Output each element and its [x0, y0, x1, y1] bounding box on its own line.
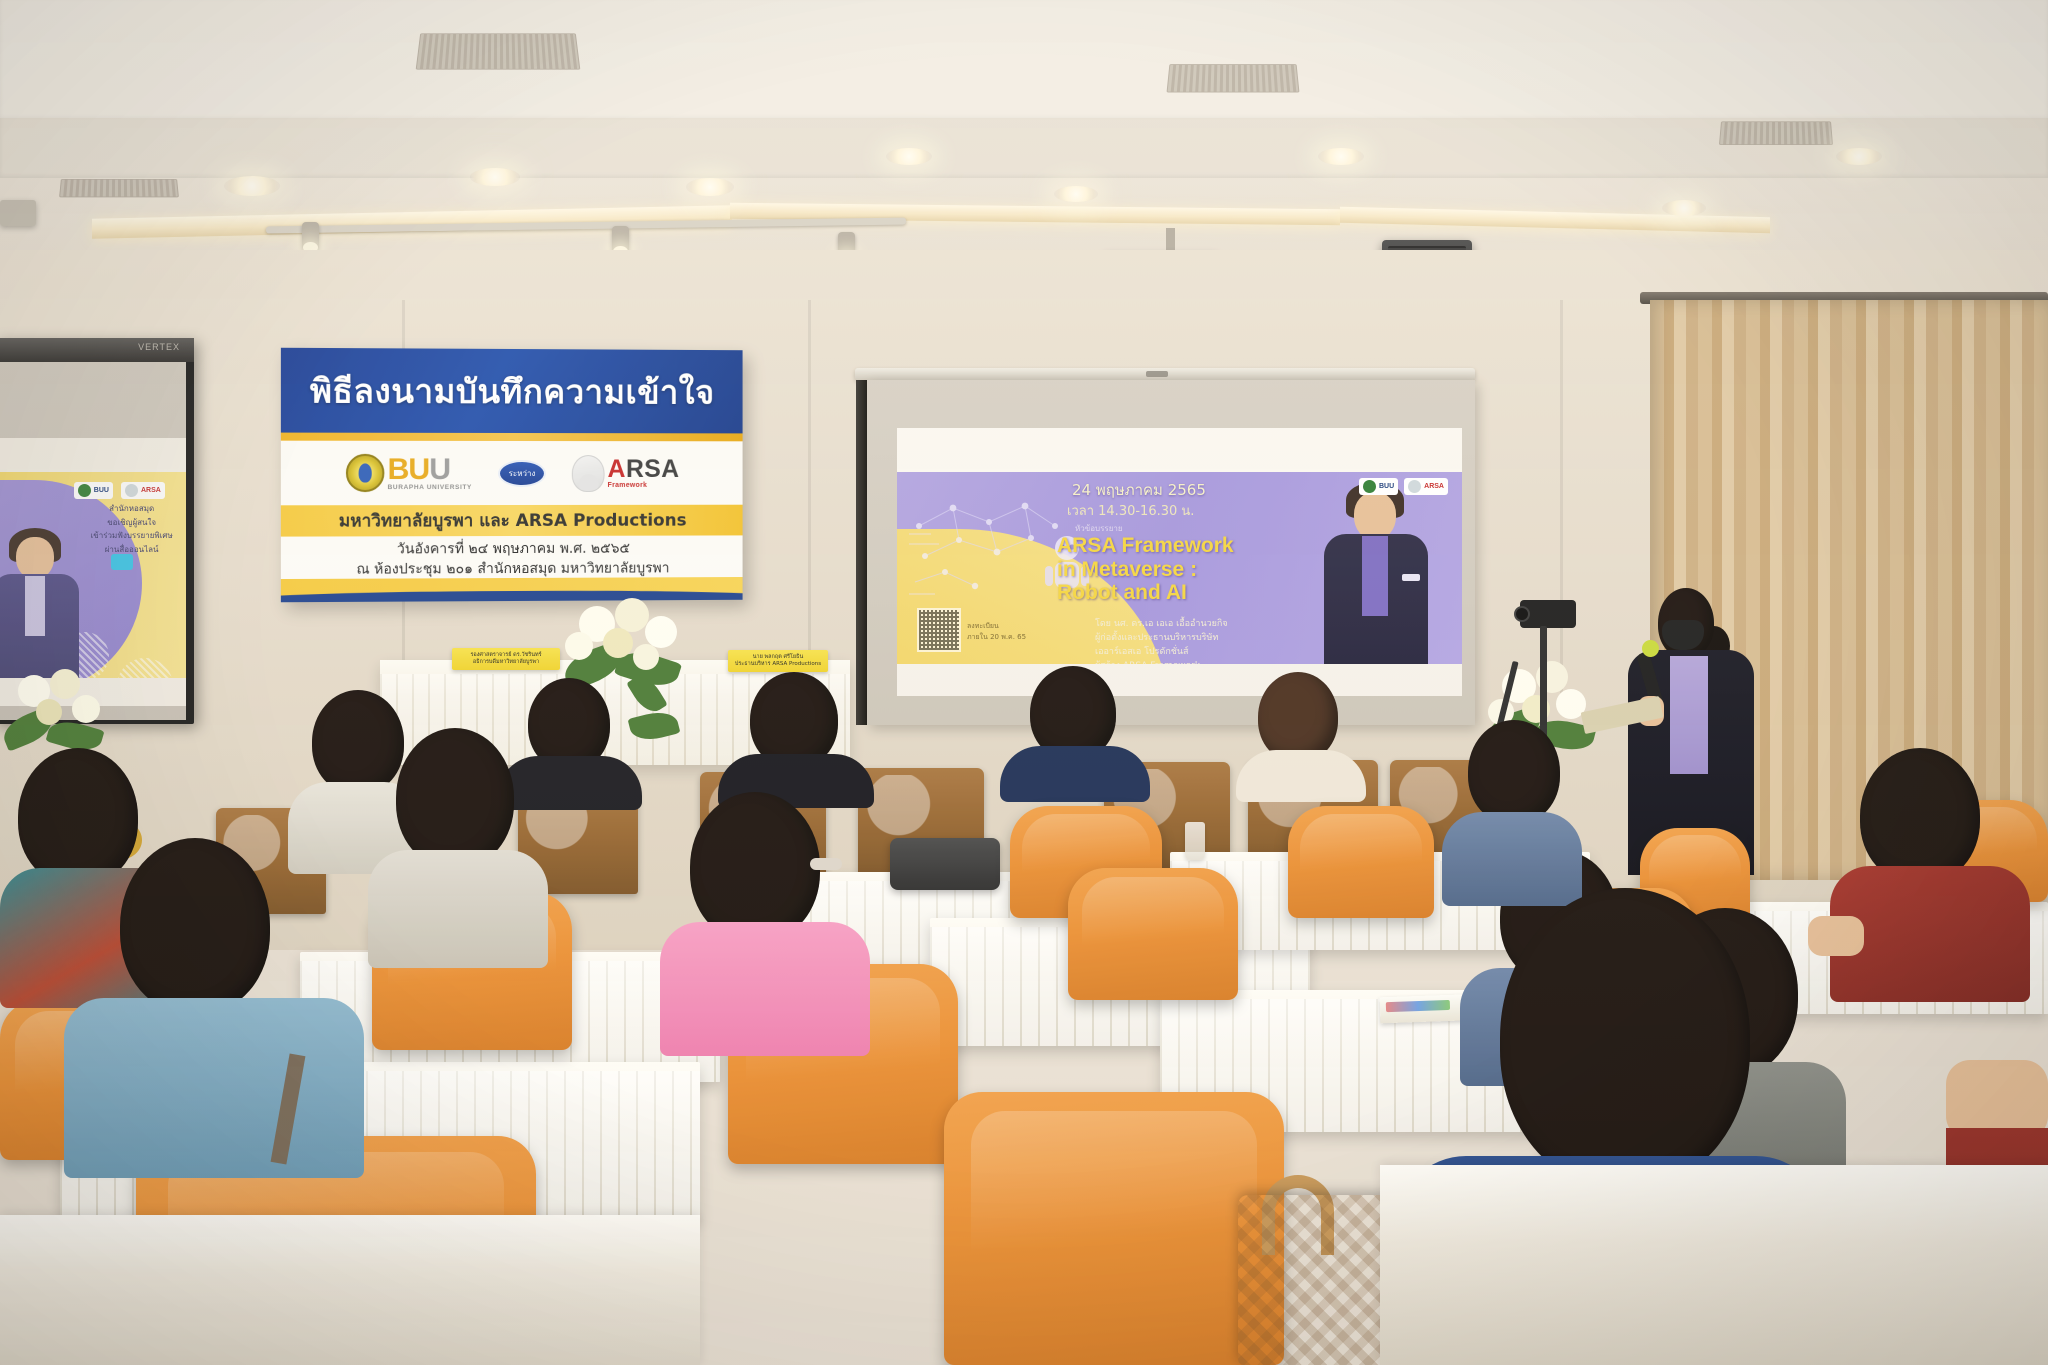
buu-logo-text: BUU — [1379, 483, 1394, 490]
arsa-subtitle: Framework — [608, 482, 680, 489]
dot-circle — [117, 658, 173, 678]
wall-seam — [1560, 300, 1563, 700]
right-slide-body: 24 พฤษภาคม 2565 เวลา 14.30-16.30 น. หัวข… — [897, 472, 1462, 664]
buu-logo: BUU BURAPHA UNIVERSITY — [346, 454, 472, 492]
seated-guest — [718, 672, 874, 806]
slide-speaker-line-2: ผู้ก่อตั้งและประธานบริหารบริษัท — [1095, 632, 1325, 646]
torso — [1236, 750, 1366, 802]
nameplate-right-line-2: ประธานบริหาร ARSA Productions — [735, 661, 821, 668]
right-slide-logos: BUU ARSA — [1359, 478, 1448, 495]
downlight — [886, 148, 932, 165]
ac-vent — [59, 179, 179, 197]
spot-light[interactable] — [302, 222, 319, 252]
torso — [1000, 746, 1150, 802]
slide-title-line-2: in Metaverse : — [1057, 558, 1307, 582]
water-glass[interactable] — [1185, 822, 1205, 860]
conference-room-photo: VERTEX — [0, 0, 2048, 1365]
cove-light — [1340, 207, 1770, 234]
nameplate-left: รองศาสตราจารย์ ดร.วัชรินทร์ อธิการบดีมหา… — [452, 648, 560, 670]
buu-seal-icon — [1363, 480, 1376, 493]
face-mask-strap — [810, 858, 842, 870]
left-slide-line-3: เข้าร่วมฟังบรรยายพิเศษ — [81, 529, 182, 543]
downlight — [470, 168, 520, 186]
qr-caption: ลงทะเบียน ภายใน 20 พ.ค. 65 — [967, 621, 1026, 642]
buu-subtitle: BURAPHA UNIVERSITY — [388, 485, 472, 492]
buu-seal-icon — [78, 484, 91, 497]
downlight — [1318, 148, 1364, 165]
slide-title: ARSA Framework in Metaverse : Robot and … — [1057, 534, 1307, 605]
downlight — [1054, 186, 1098, 202]
between-label-text: ระหว่าง — [509, 466, 536, 479]
banner-detail-lines: วันอังคารที่ ๒๔ พฤษภาคม พ.ศ. ๒๕๖๕ ณ ห้อง… — [281, 535, 743, 579]
left-slide-logos: BUU ARSA — [74, 482, 165, 499]
downlight — [224, 176, 280, 196]
banner-date-line: วันอังคารที่ ๒๔ พฤษภาคม พ.ศ. ๒๕๖๕ — [281, 538, 743, 560]
banner-parties-text: มหาวิทยาลัยบูรพา และ ARSA Productions — [339, 507, 687, 535]
qr-caption-line-2: ภายใน 20 พ.ค. 65 — [967, 632, 1026, 643]
slide-speaker-line-4: ผู้สร้าง ARSA Framework — [1095, 660, 1325, 664]
slide-date: 24 พฤษภาคม 2565 — [1072, 478, 1206, 502]
nameplate-left-line-2: อธิการบดีมหาวิทยาลัยบูรพา — [473, 659, 539, 666]
banner-header: พิธีลงนามบันทึกความเข้าใจ — [281, 348, 743, 434]
audience-chair[interactable] — [1068, 868, 1238, 1000]
slide-speaker-photo — [0, 528, 87, 678]
downlight — [1662, 200, 1706, 216]
torso — [368, 850, 548, 968]
torso — [660, 922, 870, 1056]
foreground-table — [1380, 1165, 2048, 1365]
between-label-badge: ระหว่าง — [498, 459, 546, 486]
slide-time: เวลา 14.30-16.30 น. — [1067, 500, 1194, 521]
shirt — [1670, 656, 1708, 774]
head — [1258, 672, 1338, 762]
torso — [64, 998, 364, 1178]
event-banner: พิธีลงนามบันทึกความเข้าใจ BUU BURAPHA UN… — [281, 348, 743, 603]
audience-member — [368, 728, 548, 958]
nameplate-left-line-1: รองศาสตราจารย์ ดร.วัชรินทร์ — [470, 652, 541, 659]
arsa-logo-text: ARSA — [141, 487, 161, 494]
buu-wordmark: BUU — [388, 455, 472, 485]
corner-fixture — [0, 200, 36, 226]
camera-lens-icon — [1514, 606, 1530, 622]
foreground-table — [0, 1215, 700, 1365]
ac-vent — [1719, 121, 1833, 145]
qr-caption-line-1: ลงทะเบียน — [967, 621, 1026, 632]
slide-speaker-line-3: เออาร์เอสเอ โปรดักชั่นส์ — [1095, 646, 1325, 660]
nameplate-right-line-1: นาย พลกฤต ศรีโยธิน — [753, 654, 804, 661]
audience-member — [1442, 720, 1582, 900]
left-slide-badge — [111, 554, 133, 570]
slide-title-line-3: Robot and AI — [1057, 581, 1307, 605]
banner-title: พิธีลงนามบันทึกความเข้าใจ — [310, 364, 715, 418]
seated-guest — [1000, 666, 1150, 800]
ac-vent — [1167, 64, 1300, 92]
slide-speaker-photo — [1316, 482, 1434, 664]
head — [690, 792, 820, 942]
banner-logo-row: BUU BURAPHA UNIVERSITY ระหว่าง ARSA Fram… — [281, 441, 743, 506]
handbag-on-chair[interactable] — [890, 838, 1000, 890]
qr-code[interactable] — [917, 608, 961, 652]
screen-header-bar: VERTEX — [0, 338, 194, 362]
ac-vent — [416, 33, 581, 69]
face-mask-icon — [1662, 620, 1704, 650]
head — [120, 838, 270, 1014]
arsa-logo-mini: ARSA — [1404, 478, 1448, 495]
audience-member — [660, 792, 870, 1052]
left-slide-body: BUU ARSA สำนักหอสมุด ขอเชิญผู้สนใจ เข้าร… — [0, 472, 186, 678]
head — [1500, 888, 1750, 1188]
slide-speaker-line-1: โดย นศ. ดร.เอ เอเอ เอื้ออำนวยกิจ — [1095, 618, 1325, 632]
microphone-foam — [1642, 640, 1659, 657]
head — [1860, 748, 1980, 884]
arsa-face-icon — [572, 455, 605, 492]
arsa-logo-mini: ARSA — [121, 482, 165, 499]
audience-member — [1830, 748, 2030, 998]
arsa-logo-text: ARSA — [1424, 483, 1444, 490]
right-slide: 24 พฤษภาคม 2565 เวลา 14.30-16.30 น. หัวข… — [897, 428, 1462, 696]
slide-title-line-1: ARSA Framework — [1057, 534, 1307, 558]
buu-logo-mini: BUU — [74, 482, 113, 499]
left-slide-line-2: ขอเชิญผู้สนใจ — [81, 516, 182, 530]
arsa-face-icon — [1408, 480, 1421, 493]
buu-seal-icon — [346, 454, 384, 492]
arsa-face-icon — [125, 484, 138, 497]
screen-brand-label: VERTEX — [138, 342, 180, 352]
left-slide-line-1: สำนักหอสมุด — [81, 502, 182, 516]
audience-member — [64, 838, 364, 1168]
banner-parties-bar: มหาวิทยาลัยบูรพา และ ARSA Productions — [281, 505, 743, 537]
audience-chair[interactable] — [944, 1092, 1284, 1365]
slide-speaker-info: โดย นศ. ดร.เอ เอเอ เอื้ออำนวยกิจ ผู้ก่อต… — [1095, 618, 1325, 664]
arsa-wordmark: ARSA — [608, 457, 680, 482]
head — [1468, 720, 1560, 824]
downlight — [1836, 148, 1882, 165]
buu-logo-mini: BUU — [1359, 478, 1398, 495]
seated-guest — [1236, 672, 1366, 800]
right-projection-screen: 24 พฤษภาคม 2565 เวลา 14.30-16.30 น. หัวข… — [867, 380, 1475, 725]
arsa-logo: ARSA Framework — [572, 455, 680, 492]
downlight — [686, 178, 734, 196]
screen-roller-housing — [855, 368, 1475, 380]
head — [396, 728, 514, 868]
slide-top-white-band — [897, 428, 1462, 472]
buu-logo-text: BUU — [94, 487, 109, 494]
left-slide-thai-text: สำนักหอสมุด ขอเชิญผู้สนใจ เข้าร่วมฟังบรร… — [81, 502, 182, 556]
nameplate-right: นาย พลกฤต ศรีโยธิน ประธานบริหาร ARSA Pro… — [728, 650, 828, 672]
